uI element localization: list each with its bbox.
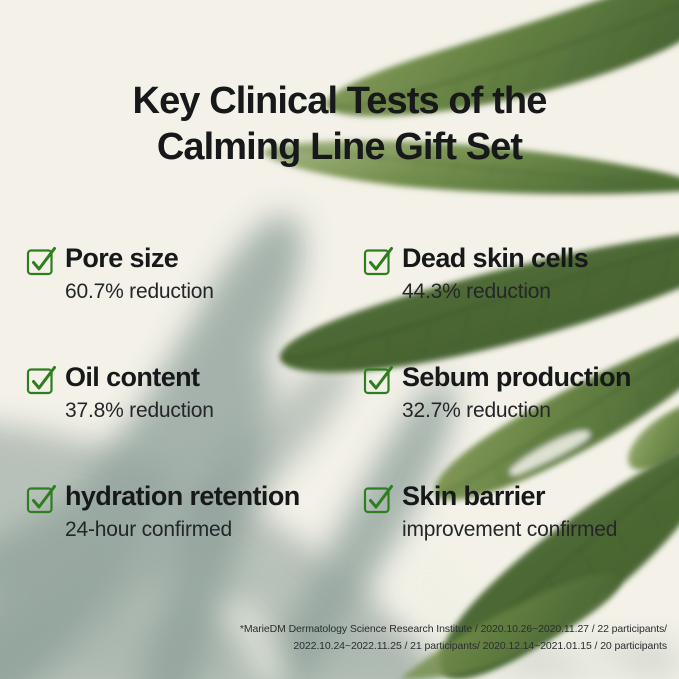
feature-item-pore-size: Pore size 60.7% reduction [26,242,214,305]
feature-label: Oil content [65,361,199,393]
feature-detail: improvement confirmed [402,517,617,543]
feature-item-oil-content: Oil content 37.8% reduction [26,361,214,424]
feature-detail: 60.7% reduction [65,279,214,305]
feature-item-sebum-production: Sebum production 32.7% reduction [363,361,631,424]
feature-row: hydration retention 24-hour confirmed Sk… [0,480,679,599]
feature-label: Dead skin cells [402,242,588,274]
footnote: *MarieDM Dermatology Science Research In… [27,621,667,655]
feature-item-hydration-retention: hydration retention 24-hour confirmed [26,480,300,543]
feature-label: hydration retention [65,480,300,512]
feature-row: Oil content 37.8% reduction Sebum produc… [0,361,679,480]
feature-label: Pore size [65,242,178,274]
title-line-2: Calming Line Gift Set [0,124,679,170]
check-box-icon [363,365,393,395]
feature-detail: 44.3% reduction [402,279,588,305]
check-box-icon [26,246,56,276]
check-box-icon [26,365,56,395]
check-box-icon [363,484,393,514]
clinical-results-list: Pore size 60.7% reduction Dead skin cell… [0,242,679,599]
page-title: Key Clinical Tests of the Calming Line G… [0,78,679,170]
footnote-line-2: 2022.10.24~2022.11.25 / 21 participants/… [27,638,667,655]
feature-detail: 32.7% reduction [402,398,631,424]
feature-item-skin-barrier: Skin barrier improvement confirmed [363,480,617,543]
check-box-icon [26,484,56,514]
feature-label: Skin barrier [402,480,545,512]
title-line-1: Key Clinical Tests of the [0,78,679,124]
feature-row: Pore size 60.7% reduction Dead skin cell… [0,242,679,361]
feature-detail: 24-hour confirmed [65,517,300,543]
check-box-icon [363,246,393,276]
promo-graphic: Key Clinical Tests of the Calming Line G… [0,0,679,679]
feature-item-dead-skin-cells: Dead skin cells 44.3% reduction [363,242,588,305]
feature-label: Sebum production [402,361,631,393]
footnote-line-1: *MarieDM Dermatology Science Research In… [27,621,667,638]
feature-detail: 37.8% reduction [65,398,214,424]
